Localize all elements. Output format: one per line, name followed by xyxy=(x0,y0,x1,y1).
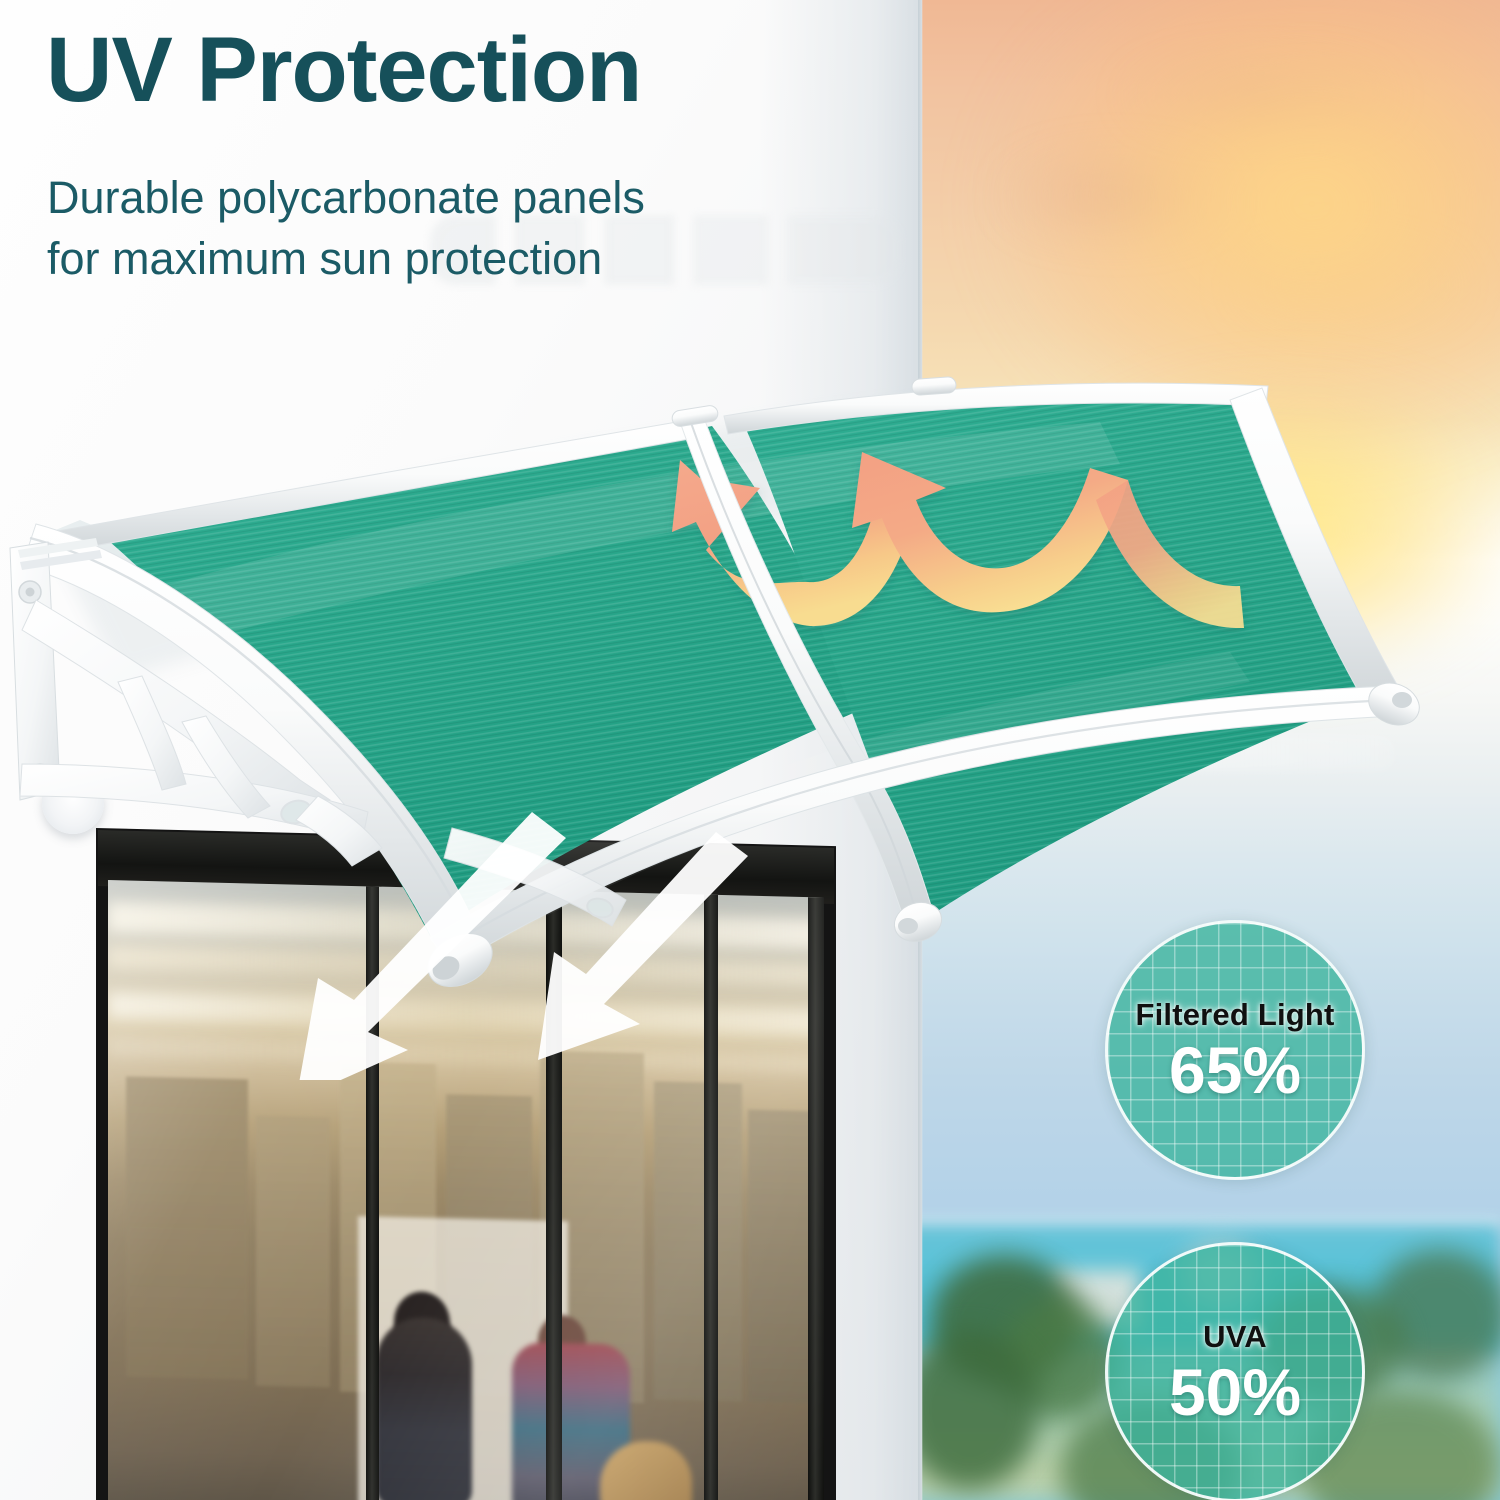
subtitle-line-2: for maximum sun protection xyxy=(47,229,645,290)
product-feature-image: UV Protection Durable polycarbonate pane… xyxy=(0,0,1500,1500)
filtered-light-badge: Filtered Light 65% xyxy=(1105,920,1365,1180)
subtitle-line-1: Durable polycarbonate panels xyxy=(47,168,645,229)
badge-label: Filtered Light xyxy=(1135,997,1334,1033)
badge-label: UVA xyxy=(1203,1319,1267,1355)
page-subtitle: Durable polycarbonate panels for maximum… xyxy=(47,168,645,290)
top-mount-clip-right xyxy=(911,376,956,395)
page-title: UV Protection xyxy=(46,22,641,120)
top-mount-clip-center xyxy=(671,405,719,428)
badge-value: 65% xyxy=(1169,1037,1301,1103)
uva-badge: UVA 50% xyxy=(1105,1242,1365,1500)
badge-value: 50% xyxy=(1169,1359,1301,1425)
